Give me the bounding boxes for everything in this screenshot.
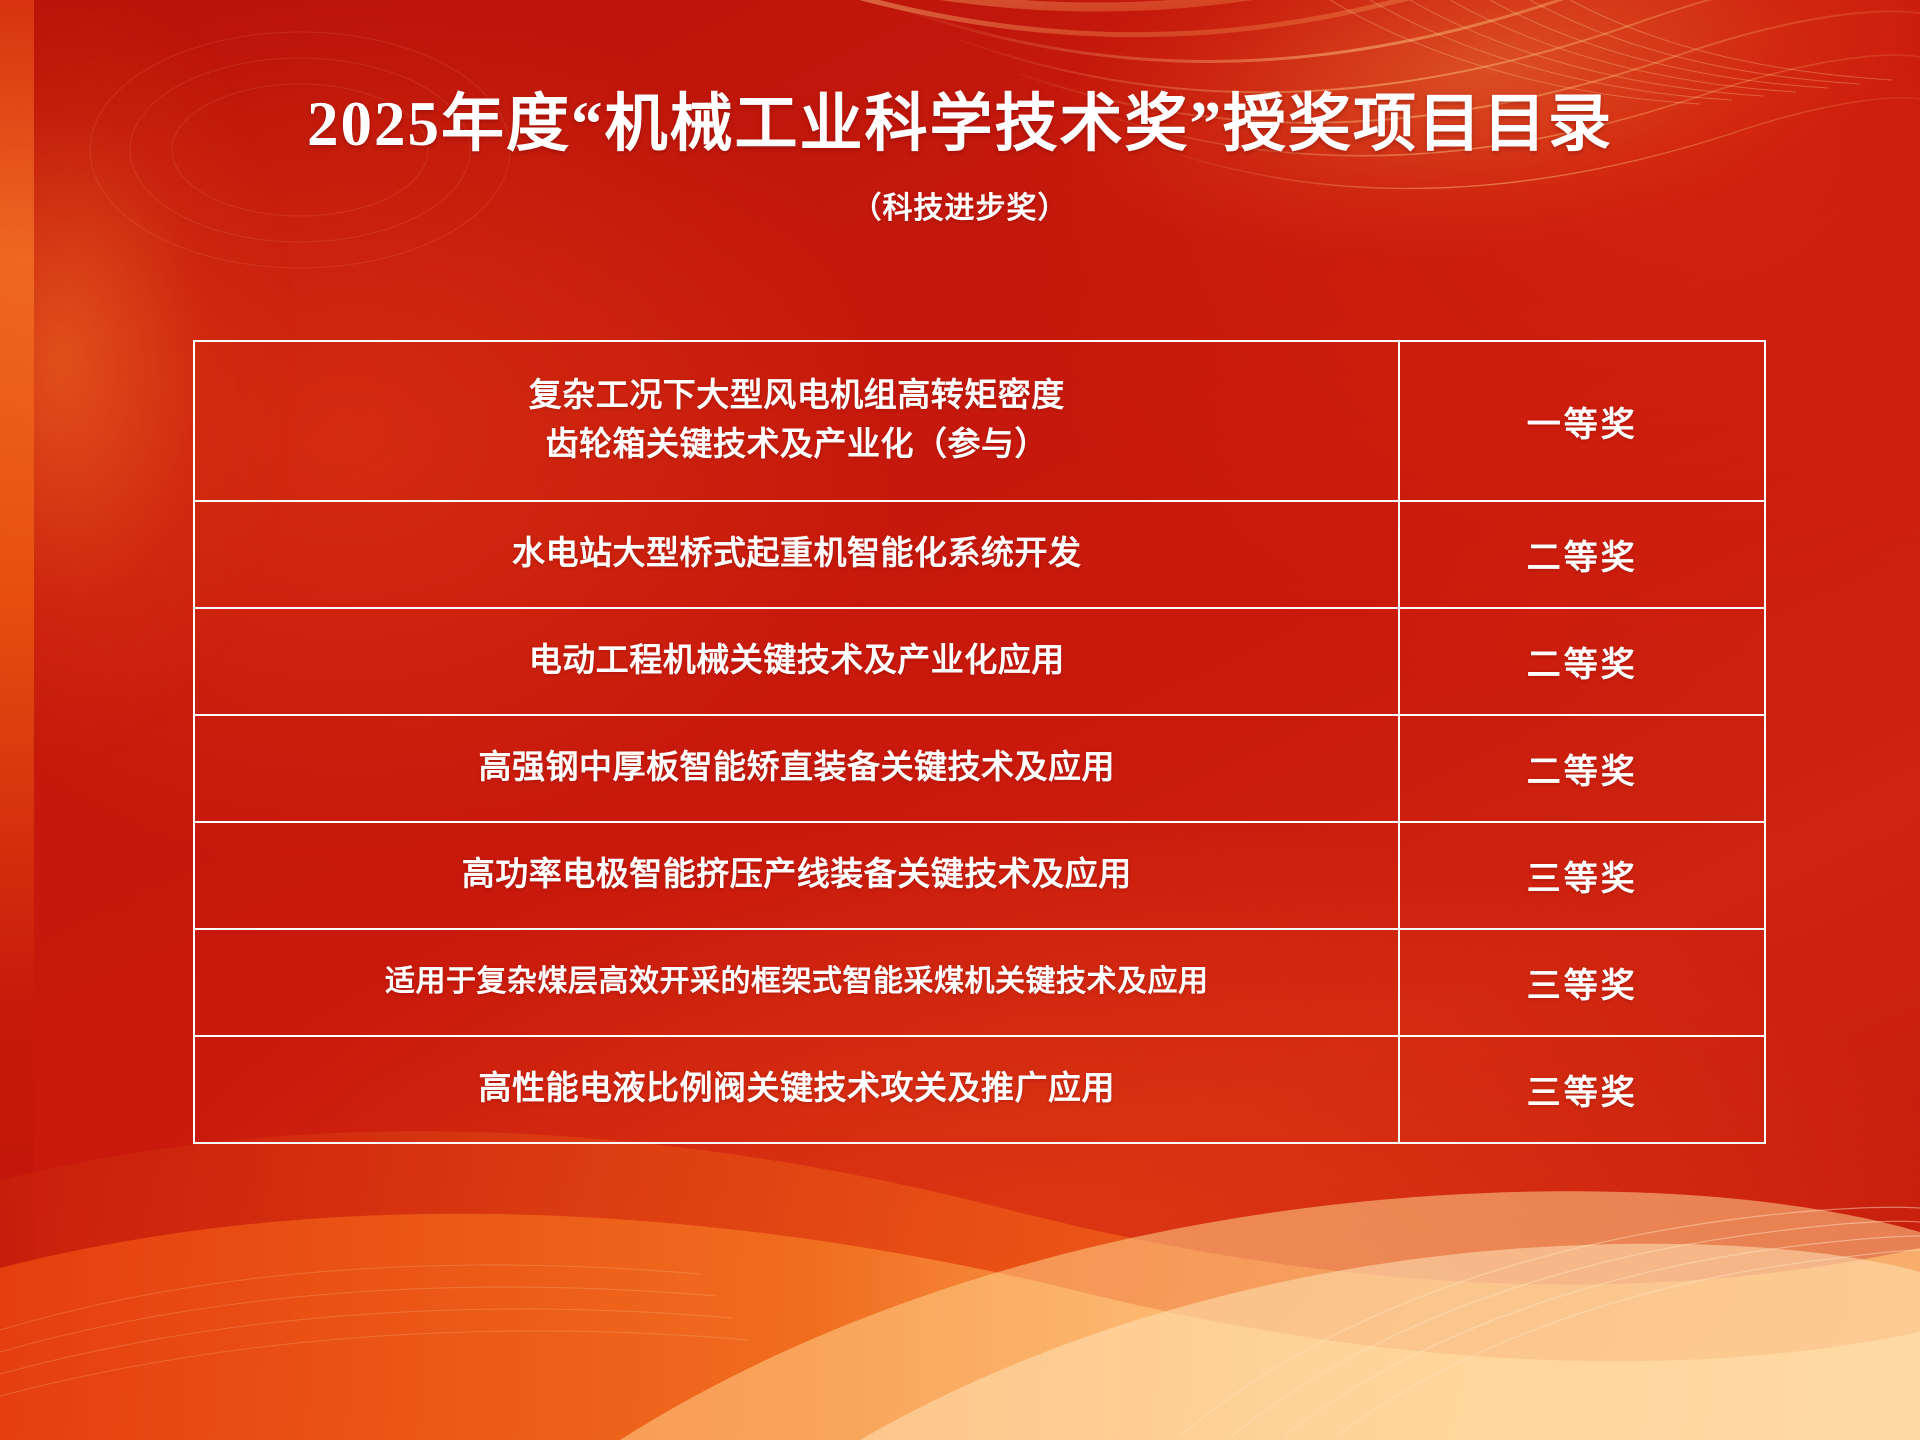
award-level-cell: 三等奖 xyxy=(1399,1036,1765,1143)
award-level-cell: 二等奖 xyxy=(1399,501,1765,608)
project-name-line1: 水电站大型桥式起重机智能化系统开发 xyxy=(213,531,1380,578)
project-name-line1: 高功率电极智能挤压产线装备关键技术及应用 xyxy=(213,852,1380,899)
project-name-cell: 高功率电极智能挤压产线装备关键技术及应用 xyxy=(194,822,1399,929)
award-level-cell: 三等奖 xyxy=(1399,929,1765,1036)
project-name-line2: 齿轮箱关键技术及产业化（参与） xyxy=(213,421,1380,471)
award-level-cell: 二等奖 xyxy=(1399,608,1765,715)
award-project-table: 复杂工况下大型风电机组高转矩密度 齿轮箱关键技术及产业化（参与） 一等奖 水电站… xyxy=(193,340,1766,1144)
award-level-label: 二等奖 xyxy=(1410,637,1754,686)
project-name-cell: 高强钢中厚板智能矫直装备关键技术及应用 xyxy=(194,715,1399,822)
project-name-line1: 适用于复杂煤层高效开采的框架式智能采煤机关键技术及应用 xyxy=(213,961,1380,1004)
award-level-cell: 一等奖 xyxy=(1399,341,1765,501)
project-name-line1: 高性能电液比例阀关键技术攻关及推广应用 xyxy=(213,1066,1380,1113)
award-level-cell: 二等奖 xyxy=(1399,715,1765,822)
project-name-cell: 高性能电液比例阀关键技术攻关及推广应用 xyxy=(194,1036,1399,1143)
table-row: 适用于复杂煤层高效开采的框架式智能采煤机关键技术及应用 三等奖 xyxy=(194,929,1765,1036)
poster-canvas: 2025年度“机械工业科学技术奖”授奖项目目录 （科技进步奖） 复杂工况下大型风… xyxy=(0,0,1920,1440)
project-name-line1: 电动工程机械关键技术及产业化应用 xyxy=(213,638,1380,685)
table-row: 电动工程机械关键技术及产业化应用 二等奖 xyxy=(194,608,1765,715)
poster-header: 2025年度“机械工业科学技术奖”授奖项目目录 （科技进步奖） xyxy=(0,0,1920,227)
award-level-label: 三等奖 xyxy=(1410,958,1754,1007)
award-level-label: 三等奖 xyxy=(1410,851,1754,900)
project-name-line1: 高强钢中厚板智能矫直装备关键技术及应用 xyxy=(213,745,1380,792)
project-name-cell: 电动工程机械关键技术及产业化应用 xyxy=(194,608,1399,715)
project-name-cell: 复杂工况下大型风电机组高转矩密度 齿轮箱关键技术及产业化（参与） xyxy=(194,341,1399,501)
award-level-label: 一等奖 xyxy=(1410,397,1754,446)
page-subtitle: （科技进步奖） xyxy=(0,183,1920,227)
award-level-label: 三等奖 xyxy=(1410,1065,1754,1114)
project-name-cell: 水电站大型桥式起重机智能化系统开发 xyxy=(194,501,1399,608)
table-row: 高强钢中厚板智能矫直装备关键技术及应用 二等奖 xyxy=(194,715,1765,822)
table-row: 复杂工况下大型风电机组高转矩密度 齿轮箱关键技术及产业化（参与） 一等奖 xyxy=(194,341,1765,501)
award-level-cell: 三等奖 xyxy=(1399,822,1765,929)
award-level-label: 二等奖 xyxy=(1410,744,1754,793)
table-row: 水电站大型桥式起重机智能化系统开发 二等奖 xyxy=(194,501,1765,608)
table-row: 高性能电液比例阀关键技术攻关及推广应用 三等奖 xyxy=(194,1036,1765,1143)
award-table-body: 复杂工况下大型风电机组高转矩密度 齿轮箱关键技术及产业化（参与） 一等奖 水电站… xyxy=(194,341,1765,1143)
project-name-line1: 复杂工况下大型风电机组高转矩密度 xyxy=(213,372,1380,422)
page-title: 2025年度“机械工业科学技术奖”授奖项目目录 xyxy=(0,88,1920,161)
table-row: 高功率电极智能挤压产线装备关键技术及应用 三等奖 xyxy=(194,822,1765,929)
award-level-label: 二等奖 xyxy=(1410,530,1754,579)
project-name-cell: 适用于复杂煤层高效开采的框架式智能采煤机关键技术及应用 xyxy=(194,929,1399,1036)
